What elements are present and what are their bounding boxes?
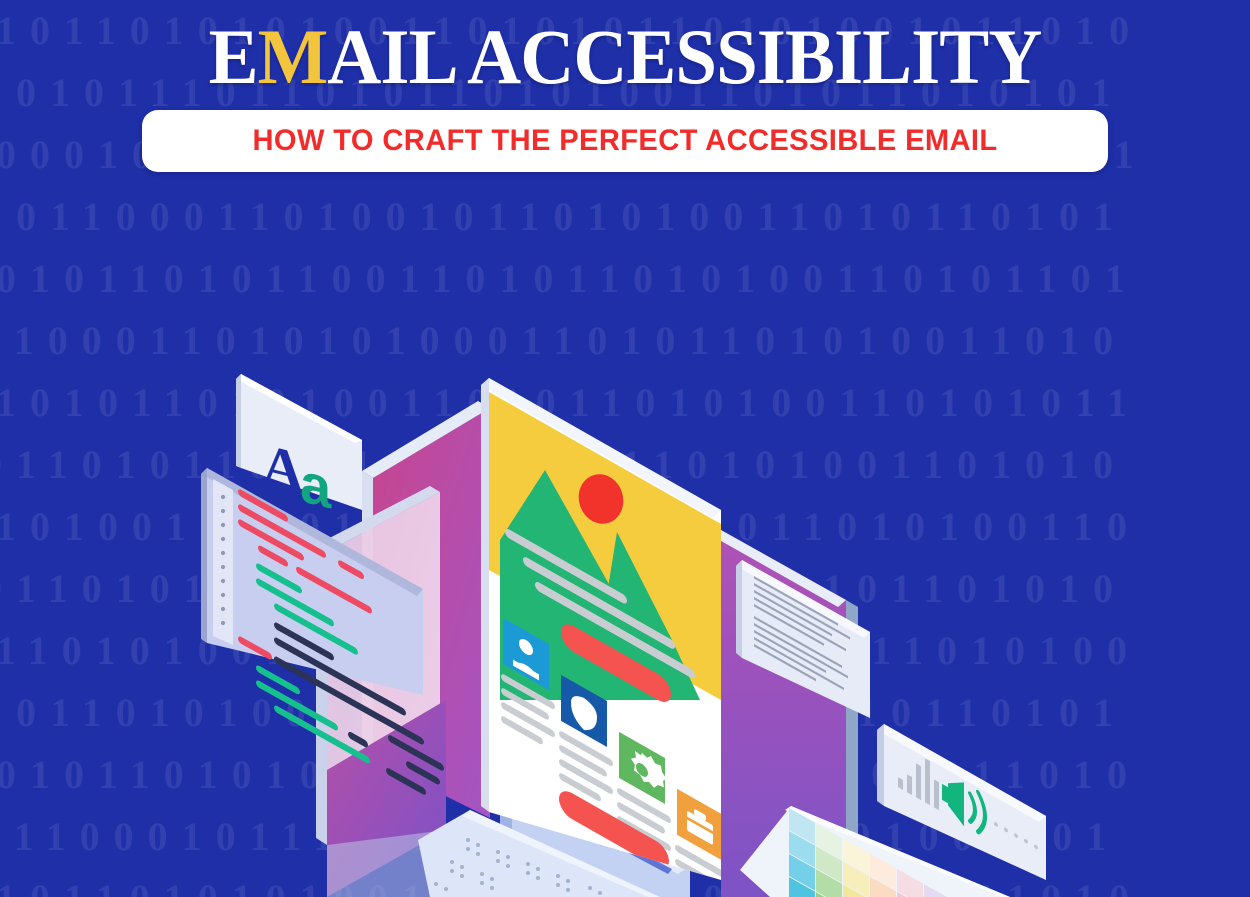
user-icon <box>513 633 539 681</box>
page-title: EMAIL ACCESSIBILITY <box>25 14 1225 100</box>
backdrop-panel-purple-lower <box>327 700 446 897</box>
binary-row: 1011010100110101101010011010110101 <box>0 682 1250 744</box>
icon-tile-profile <box>503 618 549 690</box>
backdrop-panel-lilac <box>316 486 440 845</box>
infographic-canvas: 1011010101001101010110101001011010101011… <box>0 0 1250 897</box>
binary-row: 0101101011001101011010100110101101 <box>0 248 1250 310</box>
email-content <box>501 525 729 897</box>
color-palette-panel <box>740 806 1010 897</box>
shield-icon <box>571 691 597 738</box>
palette-swatches <box>789 808 950 897</box>
icon-tile-shield <box>561 675 607 747</box>
email-mockup <box>481 378 729 897</box>
subtitle-banner: HOW TO CRAFT THE PERFECT ACCESSIBLE EMAI… <box>142 110 1108 172</box>
braille-embosser <box>418 772 690 897</box>
title-part-1: E <box>209 13 258 100</box>
binary-row: 1101010011010110101001101011010100 <box>0 620 1250 682</box>
binary-row: 1010011010110101001101011010100110 <box>0 496 1250 558</box>
audio-content <box>898 743 1038 868</box>
binary-row: 0110101101010011010110101001101010 <box>0 434 1250 496</box>
letter-A-upper: A <box>262 431 304 506</box>
title-highlight-letter: M <box>258 13 328 100</box>
binary-row: 1110001011110100011010110101001101 <box>0 806 1250 868</box>
binary-row: 1010110101001101011010100110101011 <box>0 372 1250 434</box>
icon-tile-briefcase <box>677 789 723 861</box>
braille-paper <box>418 810 660 897</box>
alt-text-lines <box>754 576 850 700</box>
header: EMAIL ACCESSIBILITY HOW TO CRAFT THE PER… <box>0 0 1250 172</box>
alt-text-panel <box>736 560 870 718</box>
code-lines <box>238 488 444 806</box>
typography-letters: A a <box>262 431 332 521</box>
binary-row: 0101101010011010110101001101011010 <box>0 744 1250 806</box>
icon-tile-settings <box>619 732 667 805</box>
binary-row: 1011010101001101010110101001011010 <box>0 868 1250 897</box>
binary-row: 1011000110100101101010011010110101 <box>0 186 1250 248</box>
binary-row: 1100011010101000110101101010011010 <box>0 310 1250 372</box>
gear-icon <box>631 745 667 795</box>
audio-panel <box>877 724 1046 880</box>
briefcase-icon <box>687 804 713 845</box>
title-part-2: AIL ACCESSIBILITY <box>327 13 1041 100</box>
typography-card: A a <box>236 374 362 521</box>
backdrop-panel-purple-right <box>714 530 858 897</box>
speaker-icon <box>942 770 985 838</box>
binary-row: 0110101001101011010100110101101010 <box>0 558 1250 620</box>
code-editor-panel <box>201 468 444 806</box>
subtitle-text: HOW TO CRAFT THE PERFECT ACCESSIBLE EMAI… <box>252 124 997 158</box>
letter-a-lower: a <box>300 452 332 522</box>
backdrop-panel-pink <box>362 401 490 818</box>
